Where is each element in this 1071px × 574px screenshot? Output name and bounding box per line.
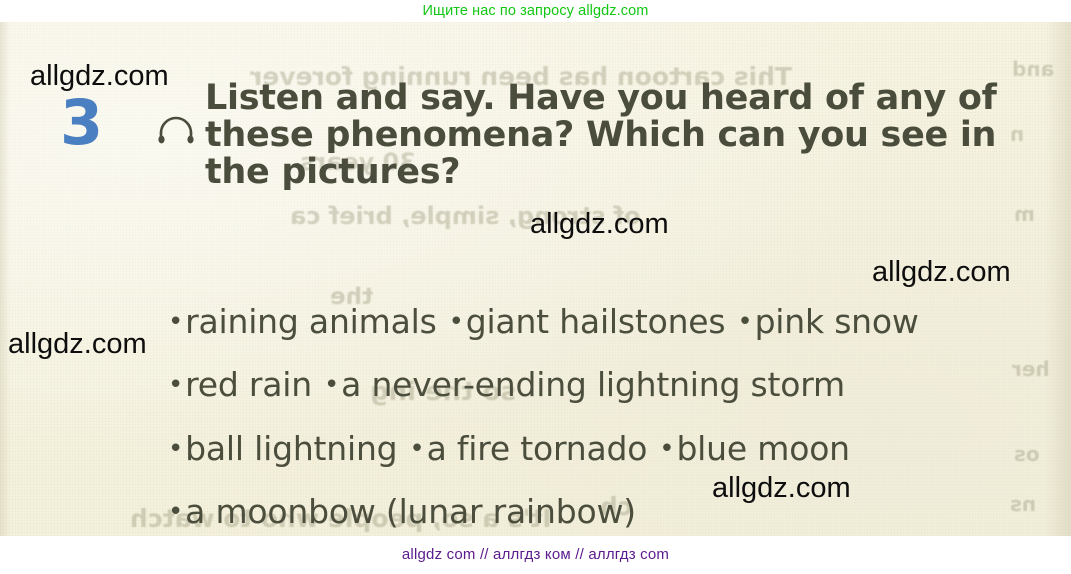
- bullet-glyph: •: [659, 425, 674, 475]
- watermark: allgdz.com: [8, 328, 147, 361]
- phenomenon-label: blue moon: [676, 429, 849, 468]
- list-item: •raining animals•giant hailstones•pink s…: [168, 290, 1068, 353]
- bullet-glyph: •: [168, 425, 183, 475]
- exercise-number: 3: [60, 92, 103, 154]
- bottom-site-banner: allgdz com // аллгдз ком // аллгдз com: [0, 536, 1071, 568]
- phenomenon-label: ball lightning: [185, 429, 397, 468]
- phenomenon-label: a fire tornado: [427, 429, 648, 468]
- bullet-glyph: •: [409, 425, 424, 475]
- bullet-glyph: •: [168, 488, 183, 536]
- list-item: •ball lightning•a fire tornado•blue moon: [168, 417, 1068, 480]
- list-item: •a moonbow (lunar rainbow): [168, 480, 1068, 536]
- bullet-glyph: •: [168, 298, 183, 348]
- headphones-icon: [154, 104, 198, 148]
- bullet-glyph: •: [168, 361, 183, 411]
- watermark: allgdz.com: [872, 256, 1011, 289]
- phenomenon-label: pink snow: [755, 302, 919, 341]
- phenomenon-label: a moonbow (lunar rainbow): [185, 492, 636, 531]
- scanned-book-page: This cartoon has been running forever 30…: [0, 22, 1071, 536]
- phenomena-list: •raining animals•giant hailstones•pink s…: [168, 290, 1068, 536]
- phenomenon-label: raining animals: [185, 302, 436, 341]
- top-site-banner: Ищите нас по запросу allgdz.com: [0, 0, 1071, 22]
- exercise-prompt: Listen and say. Have you heard of any of…: [205, 80, 1055, 191]
- bullet-glyph: •: [449, 298, 464, 348]
- phenomenon-label: red rain: [185, 365, 312, 404]
- bullet-glyph: •: [737, 298, 752, 348]
- watermark: allgdz.com: [530, 208, 669, 241]
- watermark: allgdz.com: [30, 60, 169, 93]
- phenomenon-label: a never-ending lightning storm: [341, 365, 845, 404]
- phenomenon-label: giant hailstones: [466, 302, 726, 341]
- list-item: •red rain•a never-ending lightning storm: [168, 353, 1068, 416]
- watermark: allgdz.com: [712, 472, 851, 505]
- bullet-glyph: •: [324, 361, 339, 411]
